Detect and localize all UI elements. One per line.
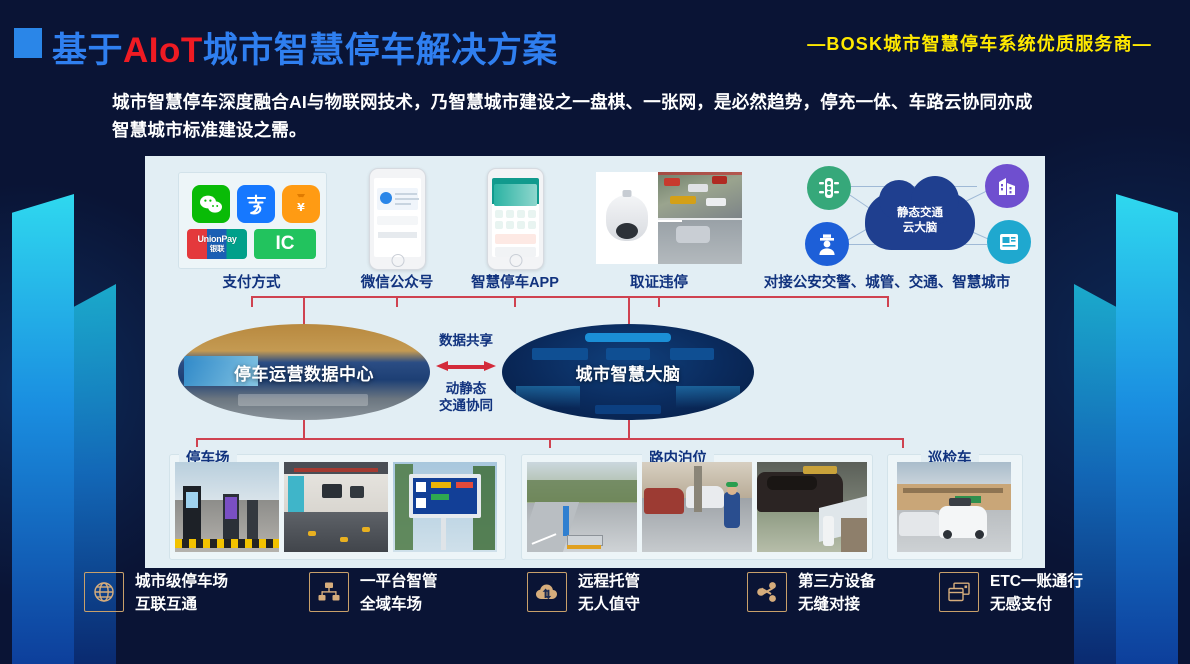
tier1-label-app: 智慧停车APP: [453, 271, 577, 292]
phone-wechat-official-account: [369, 168, 426, 270]
page-title: 基于AIoT城市智慧停车解决方案: [52, 22, 558, 73]
title-highlight: AIoT: [123, 31, 203, 70]
wechat-pay-icon: [192, 185, 230, 223]
violation-road-photo: [658, 172, 742, 264]
etc-card-icon: [939, 572, 979, 612]
left-ellipse-label: 停车运营数据中心: [234, 360, 374, 385]
bidirectional-arrow: [436, 361, 496, 372]
news-document-icon: [987, 220, 1031, 264]
tier1-label-payment: 支付方式: [178, 271, 325, 292]
payment-icon-row-2: UnionPay 银联 IC: [187, 229, 316, 259]
globe-network-icon: [84, 572, 124, 612]
cloud-brain-line1: 静态交通: [897, 206, 943, 221]
app-screen: [492, 178, 539, 257]
unionpay-icon: UnionPay 银联: [187, 229, 247, 259]
connector-drop-patrol: [902, 438, 904, 448]
share-nodes-icon: [747, 572, 787, 612]
payment-methods-board: ¥ UnionPay 银联 IC: [178, 172, 327, 269]
connector-drop-violation: [658, 296, 660, 307]
photo-parking-gate-barrier: [175, 462, 279, 552]
title-suffix: 城市智慧停车解决方案: [203, 31, 558, 70]
photo-parking-guidance-sign: [393, 462, 497, 552]
static-traffic-cloud-brain: 静态交通 云大脑: [801, 164, 1033, 274]
city-smart-brain-dashboard: 城市智慧大脑: [502, 324, 754, 420]
feature-label-2: 远程托管 无人值守: [578, 570, 640, 616]
feature-strip: 城市级停车场 互联互通 一平台智管 全域车场 远程托管 无人值守: [84, 572, 1114, 652]
ic-card-icon: IC: [254, 229, 316, 259]
feature-item-3: 第三方设备 无缝对接: [747, 572, 876, 616]
feature-item-2: 远程托管 无人值守: [527, 572, 640, 616]
hierarchy-platform-icon: [309, 572, 349, 612]
phone-smart-parking-app: [487, 168, 544, 270]
cloud-brain-line2: 云大脑: [903, 221, 938, 236]
connector-to-left-ellipse: [303, 296, 305, 324]
brand-slogan: —BOSK城市智慧停车系统优质服务商—: [807, 30, 1152, 56]
dashboard-title-bar: [585, 333, 671, 342]
feature-label-3: 第三方设备 无缝对接: [798, 570, 876, 616]
building-silhouette-left-tall: [12, 194, 74, 664]
payment-icon-row-1: ¥: [192, 185, 320, 223]
link-label-coordination-line2: 交通协同: [432, 397, 500, 414]
connector-right-ellipse-down: [628, 420, 630, 438]
parking-operation-data-center: 停车运营数据中心: [178, 324, 430, 420]
money-bag-icon: ¥: [282, 185, 320, 223]
right-ellipse-label: 城市智慧大脑: [576, 360, 681, 385]
link-label-coordination-line1: 动静态: [432, 380, 500, 397]
connector-drop-payment: [251, 296, 253, 307]
connector-drop-app: [514, 296, 516, 307]
tier1-label-wechat: 微信公众号: [335, 271, 459, 292]
lead-paragraph: 城市智慧停车深度融合AI与物联网技术，乃智慧城市建设之一盘棋、一张网，是必然趋势…: [112, 88, 1042, 144]
link-label-data-sharing: 数据共享: [432, 332, 500, 349]
link-label-coordination: 动静态 交通协同: [432, 380, 500, 414]
ic-card-label: IC: [276, 233, 295, 255]
connector-drop-roadside: [549, 438, 551, 448]
tier1-label-government: 对接公安交警、城管、交通、智慧城市: [741, 271, 1033, 292]
title-prefix: 基于: [52, 31, 123, 70]
connector-to-right-ellipse: [628, 296, 630, 324]
feature-item-4: ETC一账通行 无感支付: [939, 572, 1083, 616]
feature-label-0: 城市级停车场 互联互通: [135, 570, 228, 616]
feature-item-1: 一平台智管 全域车场: [309, 572, 438, 616]
connector-drop-government: [887, 296, 889, 307]
cloud-brain-bubble: 静态交通 云大脑: [865, 192, 975, 250]
title-accent-square: [14, 28, 42, 58]
photo-patrol-inspection-vehicle: [897, 462, 1011, 552]
alipay-icon: [237, 185, 275, 223]
cloud-sync-icon: [527, 572, 567, 612]
photo-high-pole-video-pile: [757, 462, 867, 552]
police-officer-icon: [805, 222, 849, 266]
wechat-screen: [374, 178, 421, 257]
tier1-channels: ¥ UnionPay 银联 IC 支付方式: [145, 156, 1045, 296]
unionpay-label: UnionPay: [197, 235, 236, 244]
unionpay-sub-label: 银联: [197, 244, 236, 253]
feature-label-1: 一平台智管 全域车场: [360, 570, 438, 616]
feature-item-0: 城市级停车场 互联互通: [84, 572, 228, 616]
tier1-label-violation: 取证违停: [587, 271, 731, 292]
photo-roadside-geomagnetic-sensor: [527, 462, 637, 552]
traffic-light-icon: [807, 166, 851, 210]
connector-left-ellipse-down: [303, 420, 305, 438]
connector-bus-top: [251, 296, 888, 298]
page-header: 基于AIoT城市智慧停车解决方案 —BOSK城市智慧停车系统优质服务商—: [0, 0, 1190, 78]
building-silhouette-right-tall: [1116, 194, 1178, 664]
photo-underground-garage: [284, 462, 388, 552]
building-icon: [985, 164, 1029, 208]
feature-label-4: ETC一账通行 无感支付: [990, 570, 1083, 616]
architecture-diagram-panel: ¥ UnionPay 银联 IC 支付方式: [145, 156, 1045, 568]
svg-text:¥: ¥: [297, 201, 305, 214]
connector-drop-wechat: [396, 296, 398, 307]
ptz-camera-icon: [596, 172, 658, 264]
photo-roadside-parking-inspector: [642, 462, 752, 552]
